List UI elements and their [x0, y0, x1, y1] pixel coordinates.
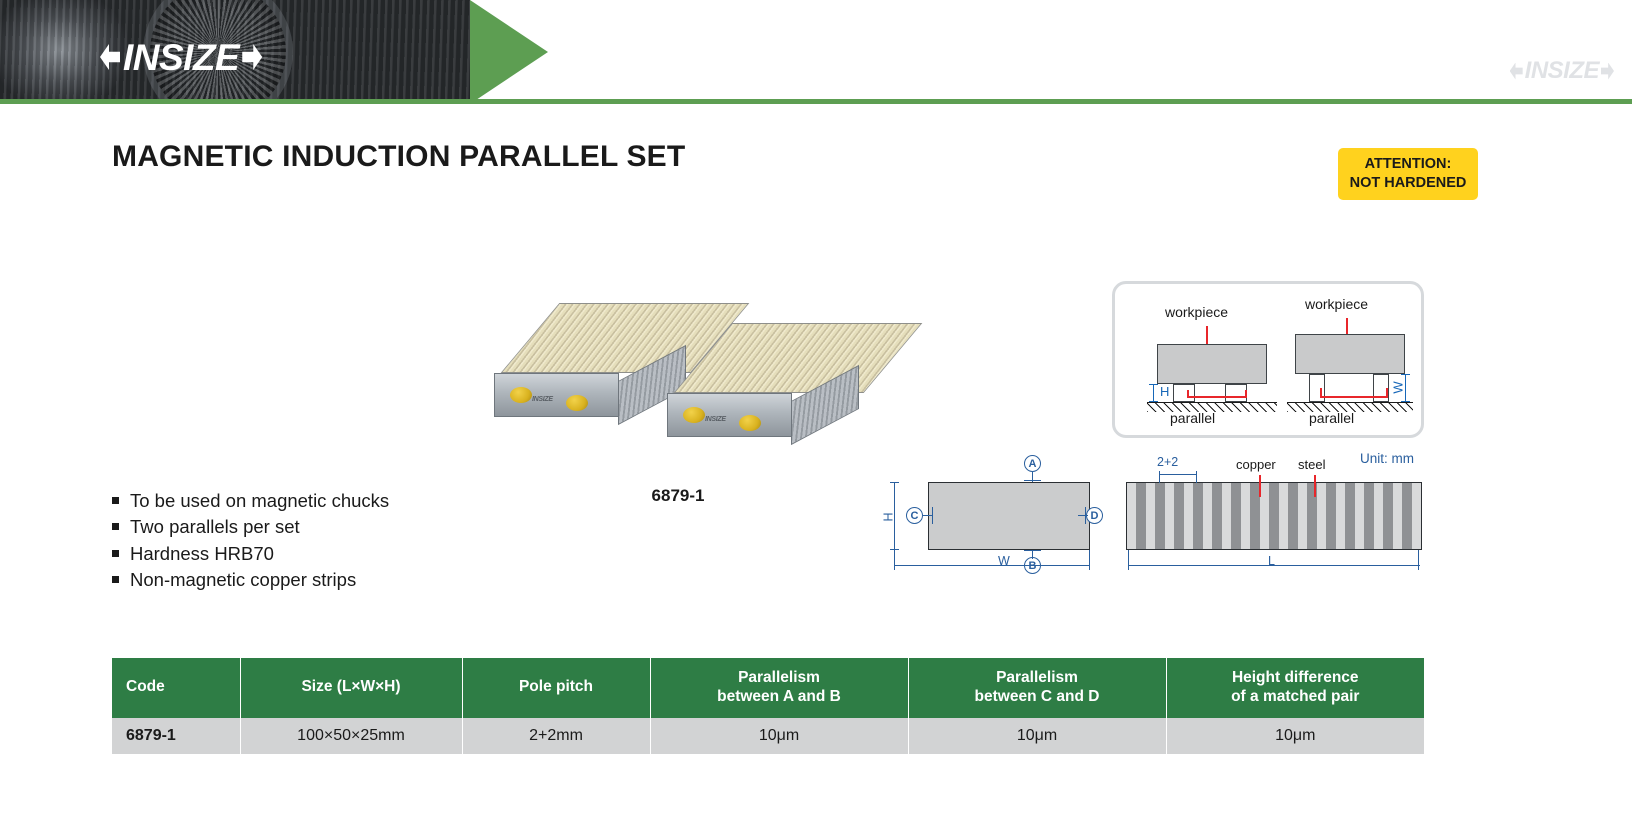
- header-line-1: Parallelism: [915, 669, 1160, 688]
- datum-symbol-d: D: [1086, 507, 1103, 524]
- list-item: To be used on magnetic chucks: [112, 488, 389, 514]
- header-green-rule: [0, 99, 1632, 104]
- unit-note: Unit: mm: [1360, 451, 1414, 466]
- header-line-2: of a matched pair: [1173, 688, 1419, 707]
- usage-left-dim-cap-bottom: [1149, 401, 1158, 402]
- usage-left-parallel-label: parallel: [1170, 410, 1215, 426]
- bullet-square-icon: [112, 576, 119, 583]
- usage-right-tick-b: [1386, 388, 1388, 398]
- attention-badge: ATTENTION: NOT HARDENED: [1338, 148, 1478, 200]
- cell-height-difference: 10μm: [1166, 718, 1424, 754]
- feature-list: To be used on magnetic chucks Two parall…: [112, 488, 389, 593]
- feature-text: To be used on magnetic chucks: [130, 488, 389, 514]
- attention-badge-line1: ATTENTION:: [1365, 155, 1452, 174]
- table-row: 6879-1 100×50×25mm 2+2mm 10μm 10μm 10μm: [112, 718, 1424, 754]
- product-photo: INSIZE INSIZE: [470, 275, 890, 485]
- height-dim-cap-top: [890, 482, 899, 483]
- length-cap-right: [1418, 550, 1419, 570]
- datum-symbol-a: A: [1024, 455, 1041, 472]
- datum-a-bar: [1024, 480, 1041, 481]
- usage-left-parallel-b: [1225, 384, 1247, 402]
- table-header-code: Code: [112, 658, 240, 718]
- header-line-2: between C and D: [915, 688, 1160, 707]
- usage-right-parallel-label: parallel: [1309, 410, 1354, 426]
- header-line-2: between A and B: [657, 688, 902, 707]
- pole-pitch-cap-left: [1159, 471, 1160, 483]
- usage-right-parallel-a: [1309, 374, 1325, 402]
- table-header-pole-pitch: Pole pitch: [462, 658, 650, 718]
- header-line-1: Parallelism: [657, 669, 902, 688]
- bullet-square-icon: [112, 550, 119, 557]
- insize-watermark-logo: INSIZE: [1510, 58, 1614, 84]
- usage-right-tick-a: [1320, 388, 1322, 398]
- bullet-square-icon: [112, 523, 119, 530]
- list-item: Non-magnetic copper strips: [112, 567, 389, 593]
- specifications-table: Code Size (L×W×H) Pole pitch Parallelism…: [112, 658, 1424, 754]
- cell-size: 100×50×25mm: [240, 718, 462, 754]
- insize-logo: INSIZE: [100, 38, 262, 76]
- table-header-parallelism-ab: Parallelism between A and B: [650, 658, 908, 718]
- datum-c-bar: [932, 507, 933, 524]
- usage-right-dim-cap-top: [1401, 374, 1410, 375]
- usage-right-workpiece-block: [1295, 334, 1405, 374]
- copper-label: copper: [1236, 457, 1276, 472]
- side-view-strip-pattern: [1126, 482, 1422, 550]
- usage-left-tick-a: [1187, 390, 1189, 398]
- usage-left-workpiece-block: [1157, 344, 1267, 384]
- arrow-right-icon: [242, 44, 262, 70]
- arrow-left-icon: [100, 44, 120, 70]
- cell-parallelism-ab: 10μm: [650, 718, 908, 754]
- usage-left-workpiece-label: workpiece: [1165, 304, 1228, 320]
- header-white-chevron: [470, 0, 1632, 104]
- usage-left-tick-b: [1245, 390, 1247, 398]
- length-cap-left: [1128, 550, 1129, 570]
- usage-diagram: workpiece parallel H workpiece para: [1112, 281, 1424, 438]
- copper-leader-line: [1259, 475, 1261, 497]
- feature-text: Two parallels per set: [130, 514, 300, 540]
- product-code-caption: 6879-1: [588, 486, 768, 506]
- usage-left-dim-cap-top: [1149, 384, 1158, 385]
- usage-right-workpiece-label: workpiece: [1305, 296, 1368, 312]
- datasheet-page: INSIZE INSIZE MAGNETIC INDUCTION PARALLE…: [0, 0, 1632, 819]
- attention-badge-line2: NOT HARDENED: [1350, 174, 1467, 193]
- usage-right-parallel-indicator: [1320, 396, 1388, 398]
- width-dim-cap-left: [894, 550, 895, 570]
- height-dim-label: H: [882, 512, 896, 521]
- usage-left-dim-label: H: [1160, 384, 1169, 399]
- page-title: MAGNETIC INDUCTION PARALLEL SET: [112, 140, 685, 174]
- steel-leader-line: [1314, 475, 1316, 497]
- width-dim-label: W: [998, 554, 1010, 568]
- table-header-row: Code Size (L×W×H) Pole pitch Parallelism…: [112, 658, 1424, 718]
- cross-section-diagram: A B C D H W: [880, 455, 1120, 590]
- list-item: Two parallels per set: [112, 514, 389, 540]
- arrow-left-icon: [1510, 63, 1523, 80]
- product-brand-mark: INSIZE: [532, 396, 553, 403]
- cell-pole-pitch: 2+2mm: [462, 718, 650, 754]
- bullet-square-icon: [112, 497, 119, 504]
- cross-section-body: [928, 482, 1090, 550]
- usage-left-parallel-indicator: [1187, 396, 1247, 398]
- usage-left-dim-line: [1153, 384, 1154, 402]
- page-header: INSIZE INSIZE: [0, 0, 1632, 104]
- datum-d-leader: [1078, 515, 1088, 516]
- product-brand-mark: INSIZE: [705, 416, 726, 423]
- table-header-parallelism-cd: Parallelism between C and D: [908, 658, 1166, 718]
- steel-label: steel: [1298, 457, 1325, 472]
- usage-left-parallel-a: [1173, 384, 1195, 402]
- insize-watermark-text: INSIZE: [1525, 59, 1599, 83]
- datum-b-bar: [1024, 550, 1041, 551]
- usage-right-dim-cap-bottom: [1401, 401, 1410, 402]
- cell-parallelism-cd: 10μm: [908, 718, 1166, 754]
- cell-code: 6879-1: [112, 718, 240, 754]
- feature-text: Non-magnetic copper strips: [130, 567, 356, 593]
- usage-right-dim-label: W: [1391, 381, 1406, 393]
- datum-symbol-c: C: [906, 507, 923, 524]
- side-view-diagram: 2+2 copper steel L: [1126, 455, 1426, 590]
- table-header-height-difference: Height difference of a matched pair: [1166, 658, 1424, 718]
- length-dim-label: L: [1268, 554, 1275, 568]
- width-dim-cap-right: [1089, 550, 1090, 570]
- feature-text: Hardness HRB70: [130, 541, 274, 567]
- header-line-1: Height difference: [1173, 669, 1419, 688]
- table-header-size: Size (L×W×H): [240, 658, 462, 718]
- width-dim-line: [894, 565, 1090, 566]
- arrow-right-icon: [1601, 63, 1614, 80]
- pole-pitch-cap-right: [1196, 471, 1197, 483]
- datum-d-bar: [1085, 507, 1086, 524]
- list-item: Hardness HRB70: [112, 541, 389, 567]
- pole-pitch-label: 2+2: [1157, 455, 1178, 469]
- insize-logo-text: INSIZE: [123, 39, 239, 76]
- pole-pitch-dim-line: [1159, 474, 1197, 475]
